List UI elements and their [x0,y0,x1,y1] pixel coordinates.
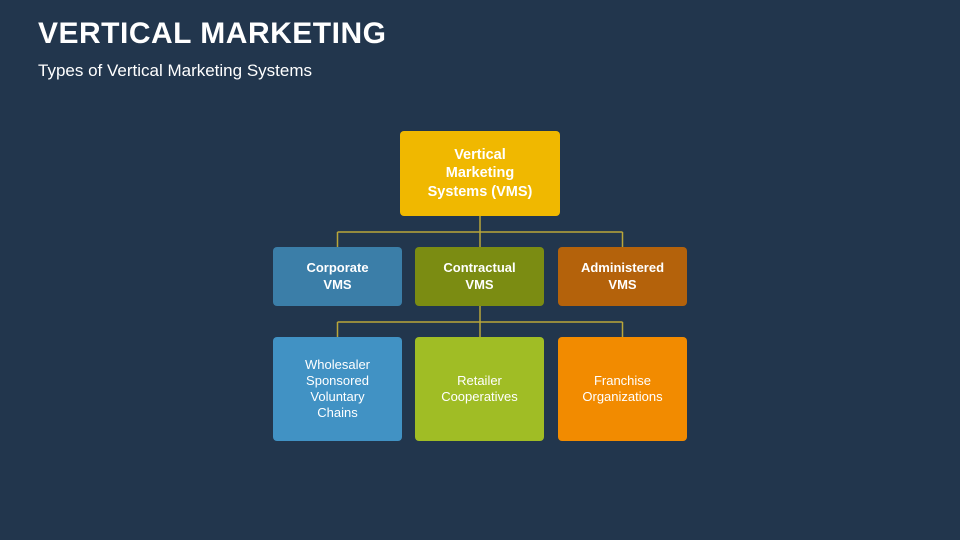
node-label: Corporate VMS [300,260,374,293]
node-wholesaler-sponsored-voluntary-chains[interactable]: Wholesaler Sponsored Voluntary Chains [273,337,402,441]
slide-canvas: VERTICAL MARKETING Types of Vertical Mar… [0,0,960,540]
node-retailer-cooperatives[interactable]: Retailer Cooperatives [415,337,544,441]
node-label: Vertical Marketing Systems (VMS) [422,146,539,200]
node-label: Franchise Organizations [576,373,668,406]
vms-hierarchy-diagram: Vertical Marketing Systems (VMS) Corpora… [0,0,960,540]
node-franchise-organizations[interactable]: Franchise Organizations [558,337,687,441]
node-contractual-vms[interactable]: Contractual VMS [415,247,544,306]
node-administered-vms[interactable]: Administered VMS [558,247,687,306]
node-label: Administered VMS [575,260,670,293]
node-corporate-vms[interactable]: Corporate VMS [273,247,402,306]
node-vertical-marketing-systems[interactable]: Vertical Marketing Systems (VMS) [400,131,560,216]
node-label: Retailer Cooperatives [435,373,524,406]
node-label: Wholesaler Sponsored Voluntary Chains [299,357,376,422]
node-label: Contractual VMS [437,260,521,293]
